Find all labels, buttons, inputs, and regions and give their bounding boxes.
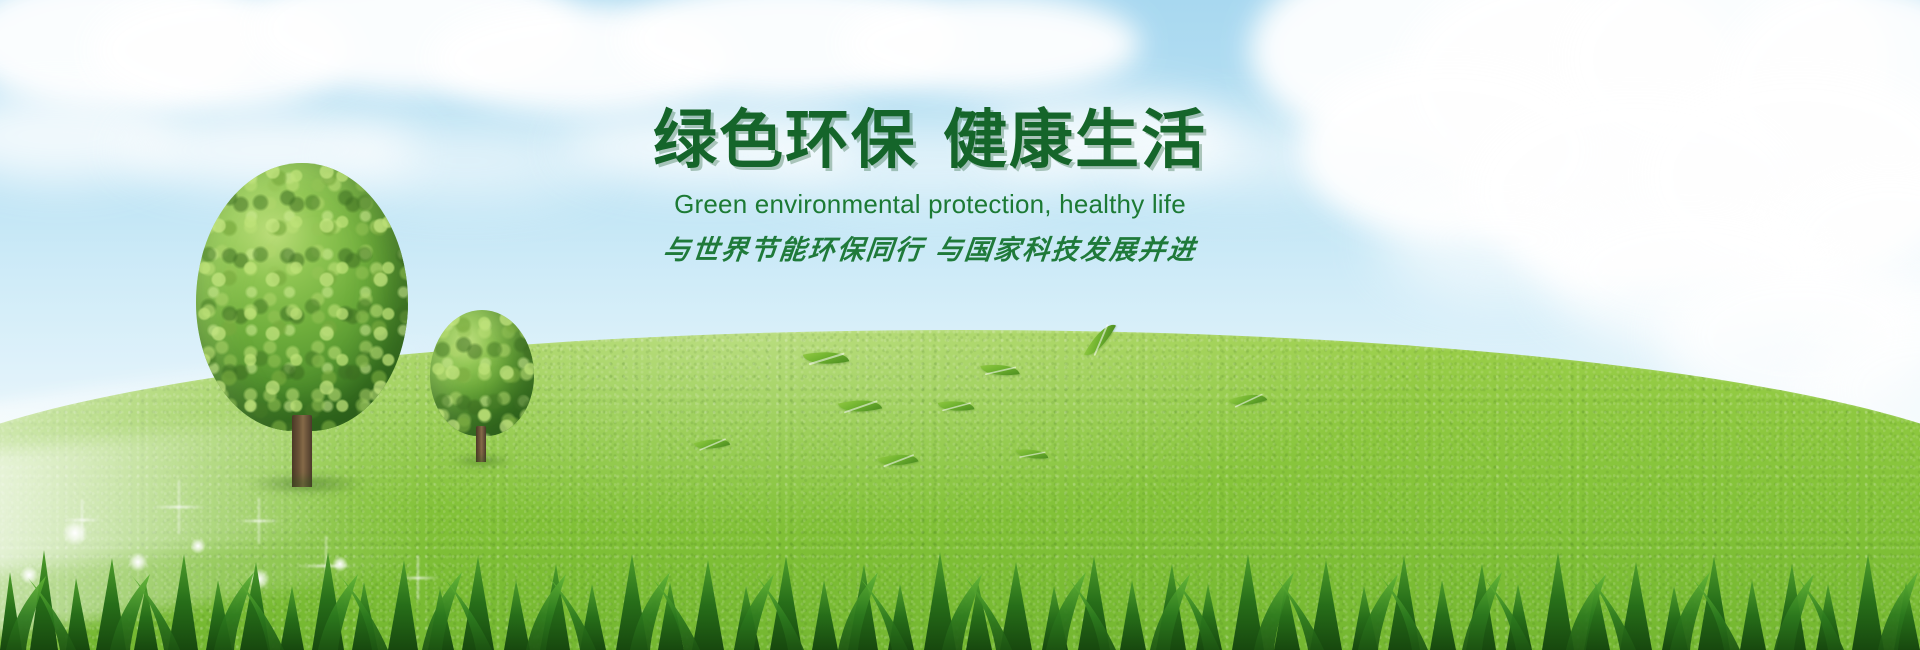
tree-large — [196, 163, 408, 463]
headline-secondary: 健康生活 — [943, 104, 1207, 178]
tree-ground-shadow — [450, 454, 514, 468]
headline-primary: 绿色环保 — [653, 104, 917, 178]
grass-blades-border — [0, 538, 1920, 650]
banner-text-block: 绿色环保健康生活 Green environmental protection,… — [620, 108, 1240, 267]
subtitle-chinese-calligraphy: 与世界节能环保同行 与国家科技发展并进 — [618, 228, 1242, 267]
tree-canopy — [430, 310, 534, 436]
tree-small — [430, 310, 534, 458]
page-title: 绿色环保健康生活 — [620, 108, 1240, 175]
cloud-icon — [1380, 180, 1620, 300]
tree-ground-shadow — [248, 473, 366, 495]
tree-canopy — [196, 163, 408, 431]
eco-hero-banner: 绿色环保健康生活 Green environmental protection,… — [0, 0, 1920, 650]
cloud-icon — [840, 0, 1140, 94]
subtitle-english: Green environmental protection, healthy … — [620, 189, 1240, 220]
